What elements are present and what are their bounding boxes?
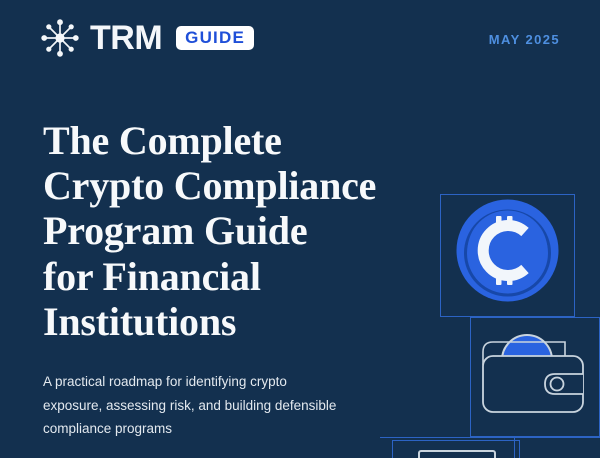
grid-horizontal-line — [380, 437, 600, 438]
brand-lockup[interactable]: TRM GUIDE — [40, 18, 254, 58]
title-line: The Complete — [43, 118, 403, 163]
crypto-coin-icon — [455, 198, 560, 303]
subtitle-line: exposure, assessing risk, and building d… — [43, 394, 373, 418]
bottom-frame-box — [392, 440, 520, 458]
subtitle-line: A practical roadmap for identifying cryp… — [43, 370, 373, 394]
title-line: Crypto Compliance — [43, 163, 403, 208]
title-line: Program Guide — [43, 208, 403, 253]
subtitle-line: compliance programs — [43, 417, 373, 441]
wallet-icon — [477, 330, 589, 418]
title-line: for Financial — [43, 254, 403, 299]
page-subtitle: A practical roadmap for identifying cryp… — [43, 370, 373, 441]
page-title: The Complete Crypto Compliance Program G… — [43, 118, 403, 344]
trm-node-hub-icon — [40, 18, 80, 58]
title-line: Institutions — [43, 299, 403, 344]
issue-date: MAY 2025 — [489, 32, 560, 47]
page-header: TRM GUIDE MAY 2025 — [0, 0, 600, 80]
guide-badge: GUIDE — [176, 26, 254, 50]
grid-vertical-line — [514, 437, 515, 458]
hero-block: The Complete Crypto Compliance Program G… — [43, 118, 403, 441]
bottom-inner-rect — [418, 450, 496, 458]
wordmark: TRM — [90, 21, 162, 55]
poster-canvas: TRM GUIDE MAY 2025 The Complete Crypto C… — [0, 0, 600, 458]
